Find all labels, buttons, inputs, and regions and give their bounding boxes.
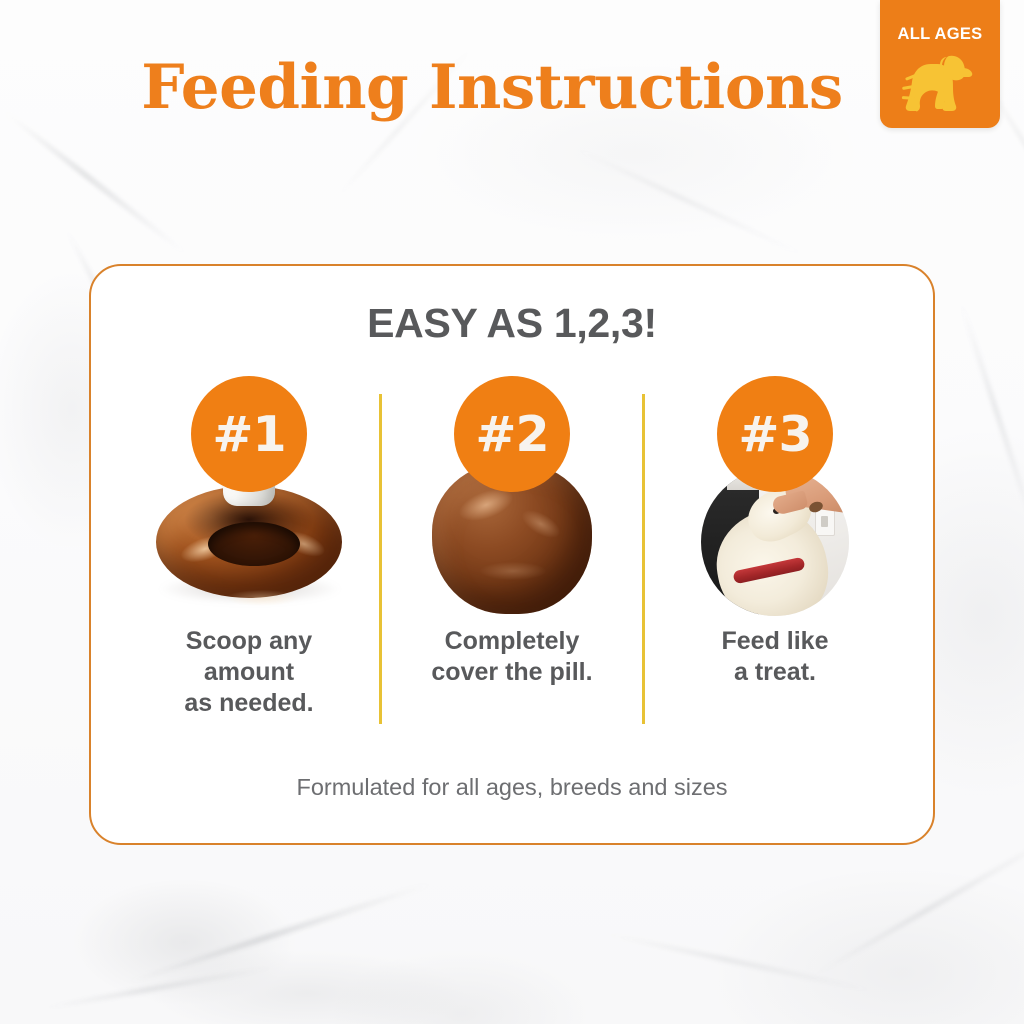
sitting-dog-icon	[897, 48, 983, 127]
instruction-card: EASY AS 1,2,3! #1 S	[89, 264, 935, 845]
page-title: Feeding Instructions	[0, 52, 1024, 123]
step-1-number-badge: #1	[191, 376, 307, 492]
card-footer-note: Formulated for all ages, breeds and size…	[91, 774, 933, 801]
ball-highlight	[518, 505, 564, 543]
step-2-caption: Completely cover the pill.	[431, 626, 592, 688]
marble-vein	[809, 825, 1024, 979]
marble-vein	[571, 145, 808, 259]
step-3-number-badge: #3	[717, 376, 833, 492]
ring-highlight	[226, 590, 298, 606]
marble-vein	[957, 298, 1024, 547]
step-1-visual: #1	[149, 374, 349, 622]
marble-vein	[3, 110, 187, 256]
step-3: #3 Feed like a treat.	[645, 374, 905, 744]
step-3-caption: Feed like a treat.	[722, 626, 829, 688]
marble-vein	[127, 881, 433, 986]
dough-ring-hole	[208, 522, 300, 566]
step-3-visual: #3	[675, 374, 875, 622]
step-2-number-badge: #2	[454, 376, 570, 492]
ball-highlight	[480, 562, 546, 580]
step-2-visual: #2	[412, 374, 612, 622]
steps-row: #1 Scoop any amount as needed. #2 Comple…	[119, 374, 905, 744]
light-switch-icon	[815, 508, 835, 536]
step-1: #1 Scoop any amount as needed.	[119, 374, 379, 744]
step-2: #2 Completely cover the pill.	[382, 374, 642, 744]
all-ages-label: ALL AGES	[880, 25, 1000, 44]
all-ages-badge: ALL AGES	[880, 0, 1000, 128]
step-1-caption: Scoop any amount as needed.	[184, 626, 313, 718]
card-heading: EASY AS 1,2,3!	[91, 300, 933, 347]
